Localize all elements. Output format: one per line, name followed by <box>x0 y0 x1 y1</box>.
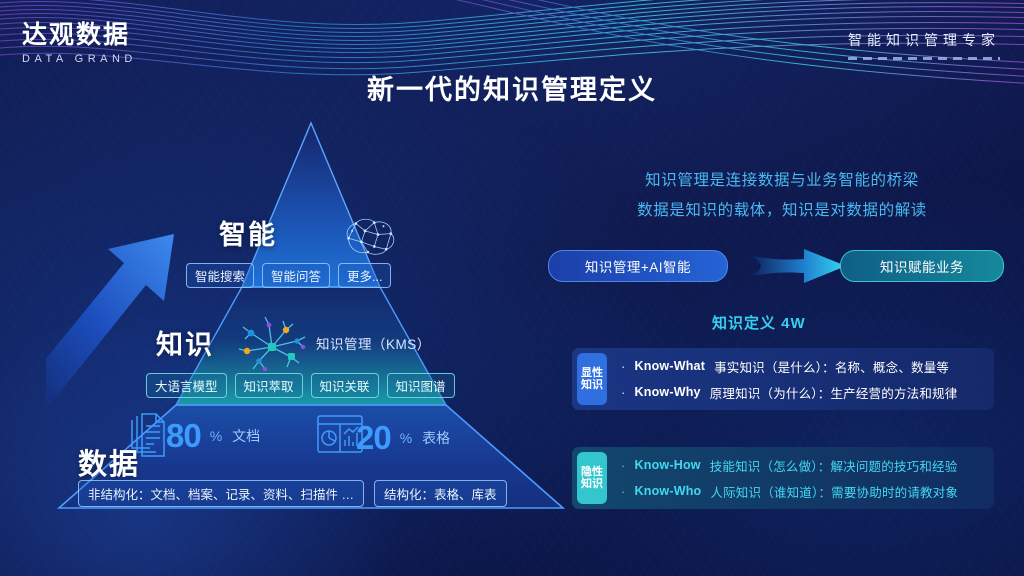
lead-line-2: 数据是知识的载体，知识是对数据的解读 <box>560 196 1004 226</box>
explicit-knowledge-list: · Know-What 事实知识（是什么）：名称、概念、数量等 · Know-W… <box>607 348 994 410</box>
metric-documents-value: 80 <box>166 419 201 452</box>
know-how-key: Know-How <box>635 458 701 472</box>
tier1-tag-row: 智能搜索 智能问答 更多... <box>186 263 391 288</box>
tag-unstructured[interactable]: 非结构化：文档、档案、记录、资料、扫描件 … <box>78 480 364 507</box>
tagline-text: 智能知识管理专家 <box>848 30 1000 50</box>
tagline-dashed-rule <box>848 57 1000 60</box>
know-why-key: Know-Why <box>635 385 701 399</box>
list-item: · Know-Why 原理知识（为什么）：生产经营的方法和规律 <box>621 383 994 402</box>
tag-smart-search[interactable]: 智能搜索 <box>186 263 254 288</box>
tier-label-intelligence: 智能 <box>219 213 277 252</box>
logo: 达观数据 DATA GRAND <box>22 22 137 65</box>
tag-knowledge-linking[interactable]: 知识关联 <box>311 373 379 398</box>
explicit-knowledge-tab: 显性知识 <box>577 353 607 405</box>
metric-tables-value: 20 <box>356 421 391 454</box>
metric-tables-unit: % <box>400 430 412 446</box>
tacit-knowledge-box: 隐性知识 · Know-How 技能知识（怎么做）：解决问题的技巧和经验 · K… <box>572 447 994 509</box>
pill-knowledge-empowers-business[interactable]: 知识赋能业务 <box>840 250 1004 282</box>
metric-tables: 20 % 表格 <box>356 421 450 454</box>
know-what-text: 事实知识（是什么）：名称、概念、数量等 <box>714 357 949 376</box>
bullet-icon: · <box>621 484 626 499</box>
tag-structured[interactable]: 结构化：表格、库表 <box>374 480 507 507</box>
bullet-icon: · <box>621 385 626 400</box>
know-how-text: 技能知识（怎么做）：解决问题的技巧和经验 <box>710 456 958 475</box>
metric-documents: 80 % 文档 <box>166 419 260 452</box>
list-item: · Know-How 技能知识（怎么做）：解决问题的技巧和经验 <box>621 456 994 475</box>
kms-caption: 知识管理（KMS） <box>316 333 431 353</box>
tag-knowledge-extraction[interactable]: 知识萃取 <box>235 373 303 398</box>
know-what-key: Know-What <box>635 359 706 373</box>
lead-line-1: 知识管理是连接数据与业务智能的桥梁 <box>560 166 1004 196</box>
page-title: 新一代的知识管理定义 <box>0 68 1024 107</box>
logo-text-cn: 达观数据 <box>22 22 137 50</box>
know-who-text: 人际知识（谁知道）：需要协助时的请教对象 <box>710 482 958 501</box>
tag-more[interactable]: 更多... <box>338 263 391 288</box>
lead-statement: 知识管理是连接数据与业务智能的桥梁 数据是知识的载体，知识是对数据的解读 <box>560 166 1004 226</box>
tier-label-knowledge: 知识 <box>156 323 214 362</box>
tag-smart-qa[interactable]: 智能问答 <box>262 263 330 288</box>
tag-llm[interactable]: 大语言模型 <box>146 373 227 398</box>
know-why-text: 原理知识（为什么）：生产经营的方法和规律 <box>710 383 958 402</box>
metric-documents-unit: % <box>210 428 222 444</box>
tier2-tag-row: 大语言模型 知识萃取 知识关联 知识图谱 <box>146 373 455 398</box>
knowledge-pyramid: 智能 知识 数据 知识管理（KMS） 智能搜索 智能问答 更多... 大语言模型… <box>46 115 576 517</box>
explicit-knowledge-box: 显性知识 · Know-What 事实知识（是什么）：名称、概念、数量等 · K… <box>572 348 994 410</box>
tacit-knowledge-tab: 隐性知识 <box>577 452 607 504</box>
logo-text-en: DATA GRAND <box>22 53 137 65</box>
pill-km-plus-ai[interactable]: 知识管理+AI智能 <box>548 250 728 282</box>
tacit-knowledge-list: · Know-How 技能知识（怎么做）：解决问题的技巧和经验 · Know-W… <box>607 447 994 509</box>
slide-root: 达观数据 DATA GRAND 智能知识管理专家 新一代的知识管理定义 <box>0 0 1024 576</box>
bullet-icon: · <box>621 359 626 374</box>
tag-knowledge-graph[interactable]: 知识图谱 <box>387 373 455 398</box>
know-who-key: Know-Who <box>635 484 702 498</box>
bullet-icon: · <box>621 458 626 473</box>
tagline: 智能知识管理专家 <box>848 30 1000 60</box>
list-item: · Know-Who 人际知识（谁知道）：需要协助时的请教对象 <box>621 482 994 501</box>
tier3-tag-row: 非结构化：文档、档案、记录、资料、扫描件 … 结构化：表格、库表 <box>78 480 507 507</box>
metric-tables-word: 表格 <box>422 428 450 448</box>
list-item: · Know-What 事实知识（是什么）：名称、概念、数量等 <box>621 357 994 376</box>
metric-documents-word: 文档 <box>232 426 260 446</box>
section-title-4w: 知识定义 4W <box>712 312 806 333</box>
tier-label-data: 数据 <box>78 441 140 483</box>
transformation-row: 知识管理+AI智能 知识赋能业务 <box>548 250 1004 284</box>
